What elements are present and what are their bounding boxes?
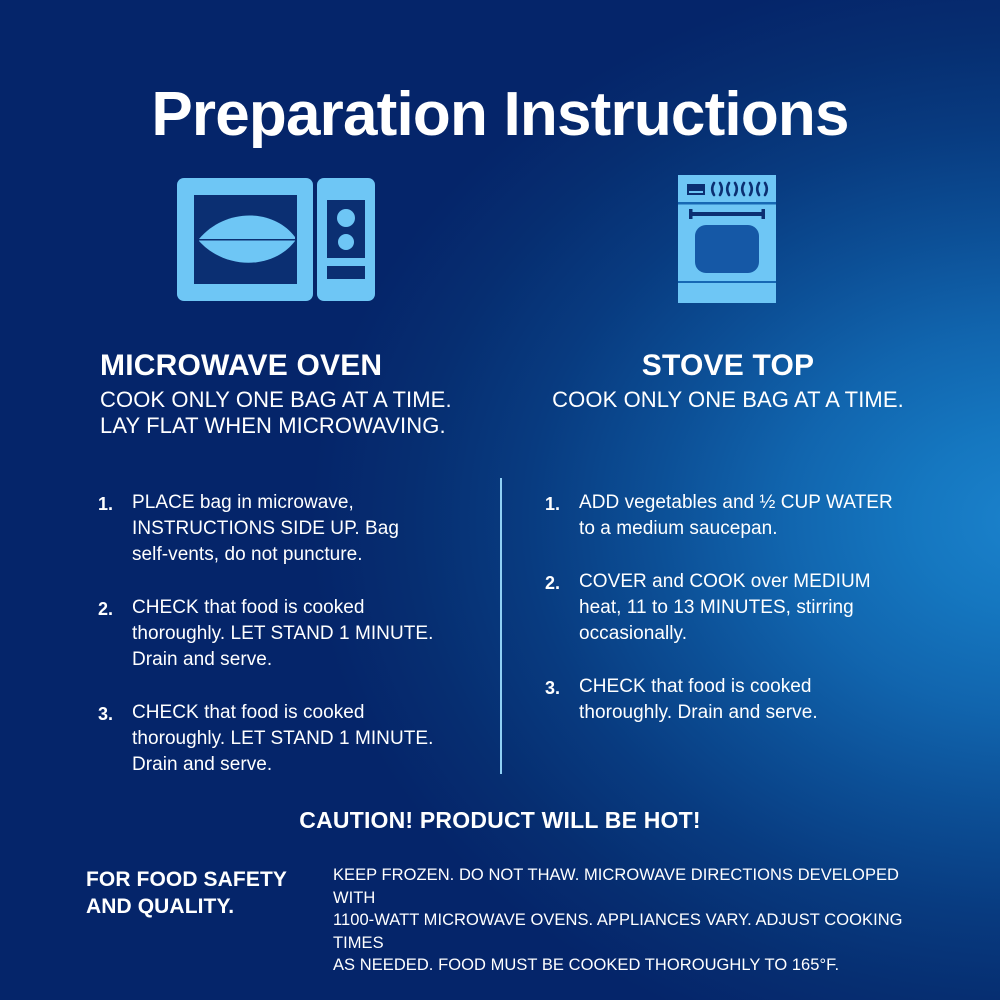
- list-item: 2. CHECK that food is cooked thoroughly.…: [98, 595, 468, 673]
- footer-body-text: KEEP FROZEN. DO NOT THAW. MICROWAVE DIRE…: [333, 864, 923, 977]
- step-number: 1.: [98, 490, 132, 568]
- column-header-microwave: MICROWAVE OVEN COOK ONLY ONE BAG AT A TI…: [100, 347, 452, 439]
- footer-heading: FOR FOOD SAFETY AND QUALITY.: [86, 866, 326, 920]
- step-number: 1.: [545, 490, 579, 542]
- caution-banner: CAUTION! PRODUCT WILL BE HOT!: [0, 806, 1000, 834]
- list-item: 3. CHECK that food is cooked thoroughly.…: [545, 674, 925, 726]
- column-subtitle-microwave: COOK ONLY ONE BAG AT A TIME. LAY FLAT WH…: [100, 387, 452, 439]
- list-item: 1. PLACE bag in microwave, INSTRUCTIONS …: [98, 490, 468, 568]
- stove-range-icon: [678, 175, 776, 303]
- step-text: PLACE bag in microwave, INSTRUCTIONS SID…: [132, 490, 468, 568]
- microwave-oven-icon: [177, 178, 375, 301]
- preparation-instructions-panel: Preparation Instructions: [0, 0, 1000, 1000]
- page-title: Preparation Instructions: [0, 76, 1000, 154]
- column-title-stovetop: STOVE TOP: [500, 347, 956, 384]
- step-text: COVER and COOK over MEDIUM heat, 11 to 1…: [579, 569, 925, 647]
- step-number: 2.: [545, 569, 579, 647]
- list-item: 2. COVER and COOK over MEDIUM heat, 11 t…: [545, 569, 925, 647]
- step-text: ADD vegetables and ½ CUP WATER to a medi…: [579, 490, 925, 542]
- step-number: 2.: [98, 595, 132, 673]
- icon-row: [0, 175, 1000, 310]
- list-item: 3. CHECK that food is cooked thoroughly.…: [98, 700, 468, 778]
- list-item: 1. ADD vegetables and ½ CUP WATER to a m…: [545, 490, 925, 542]
- column-divider: [500, 478, 502, 774]
- steps-list-microwave: 1. PLACE bag in microwave, INSTRUCTIONS …: [98, 490, 468, 805]
- step-number: 3.: [98, 700, 132, 778]
- step-text: CHECK that food is cooked thoroughly. Dr…: [579, 674, 925, 726]
- step-text: CHECK that food is cooked thoroughly. LE…: [132, 595, 468, 673]
- step-text: CHECK that food is cooked thoroughly. LE…: [132, 700, 468, 778]
- column-title-microwave: MICROWAVE OVEN: [100, 347, 452, 384]
- column-subtitle-stovetop: COOK ONLY ONE BAG AT A TIME.: [500, 387, 956, 413]
- column-header-stovetop: STOVE TOP COOK ONLY ONE BAG AT A TIME.: [500, 347, 956, 413]
- step-number: 3.: [545, 674, 579, 726]
- steps-list-stovetop: 1. ADD vegetables and ½ CUP WATER to a m…: [545, 490, 925, 753]
